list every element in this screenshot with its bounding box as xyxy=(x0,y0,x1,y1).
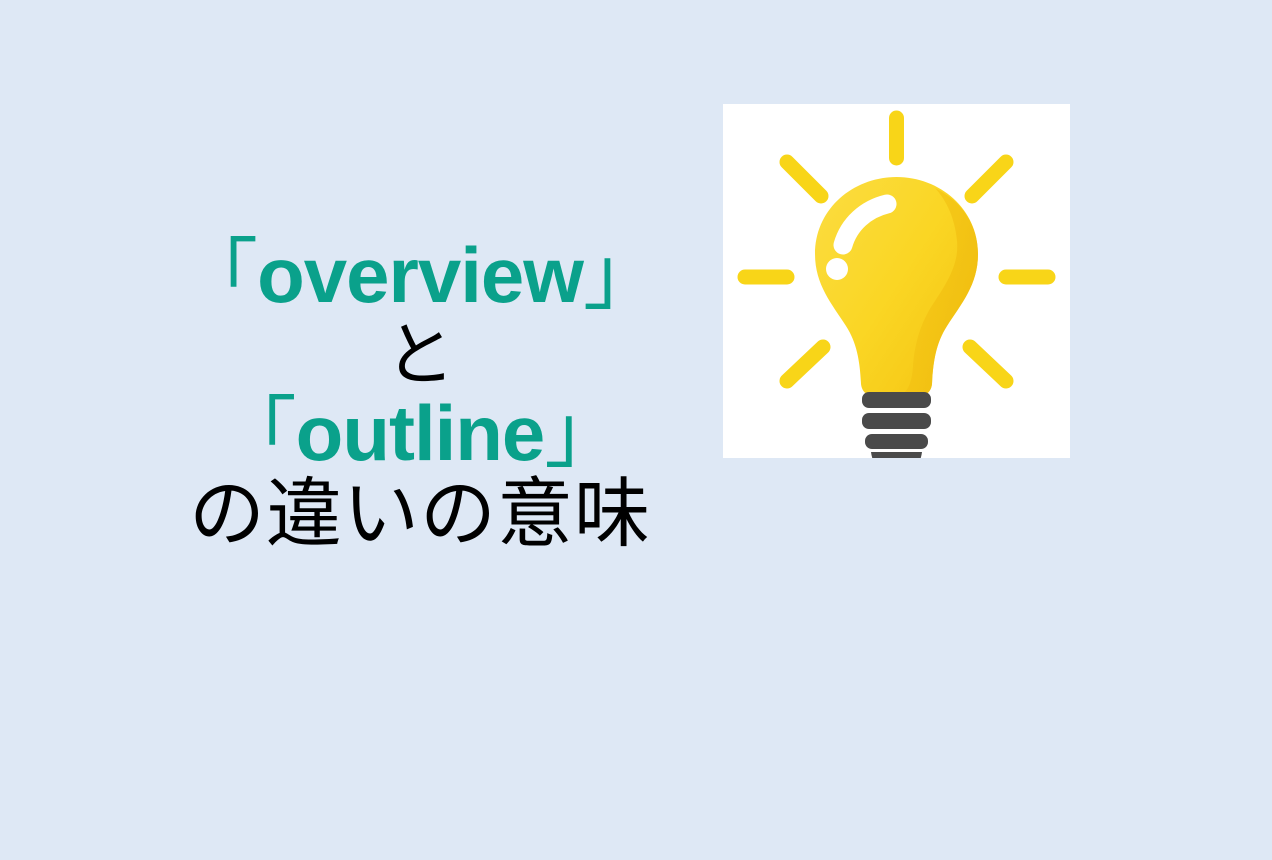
base-ring-3 xyxy=(865,434,928,449)
illustration-panel xyxy=(723,104,1070,458)
headline-line-conjunction: と xyxy=(0,320,840,390)
base-ring-2 xyxy=(862,413,931,429)
close-bracket-1: 」 xyxy=(583,231,660,319)
poster-canvas: 「overview」 と 「outline」 の違いの意味 xyxy=(0,0,1272,860)
keyword-outline: outline xyxy=(296,389,545,477)
keyword-overview: overview xyxy=(257,231,583,319)
close-bracket-2: 」 xyxy=(544,389,621,477)
bulb-base xyxy=(862,392,931,458)
headline-line-suffix: の違いの意味 xyxy=(0,476,840,552)
open-bracket-2: 「 xyxy=(219,389,296,477)
headline-block: 「overview」 と 「outline」 の違いの意味 xyxy=(0,236,840,552)
base-ring-1 xyxy=(862,392,931,408)
open-bracket-1: 「 xyxy=(180,231,257,319)
light-bulb-icon xyxy=(723,104,1070,458)
headline-line-overview: 「overview」 xyxy=(0,236,840,314)
base-tip xyxy=(871,452,922,458)
headline-line-outline: 「outline」 xyxy=(0,394,840,472)
bulb-highlight-dot xyxy=(826,258,848,280)
